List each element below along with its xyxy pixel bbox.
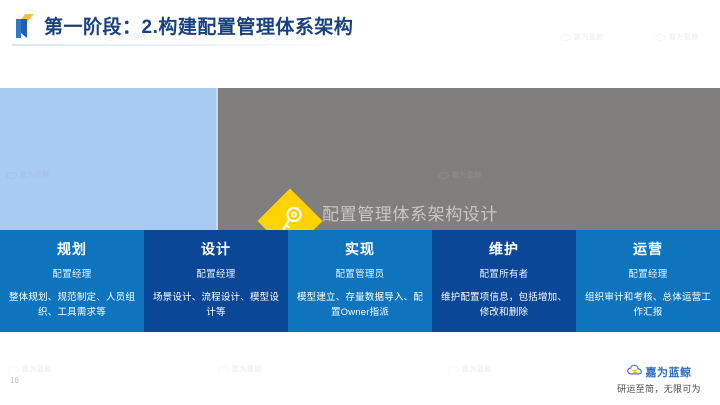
phase-column-implementation[interactable]: 实现 配置管理员 模型建立、存量数据导入、配置Owner指派	[288, 230, 432, 332]
cloud-logo-icon	[627, 363, 643, 381]
band-left-panel	[0, 88, 216, 230]
cloud-watermark-icon	[8, 365, 19, 373]
column-title: 维护	[438, 239, 570, 259]
brand-tagline: 研运至简，无限可为	[606, 382, 712, 395]
page-title: 第一阶段：2.构建配置管理体系架构	[44, 12, 353, 39]
slide-canvas: 第一阶段：2.构建配置管理体系架构 配置管理体系架构设计 管理过程：定义管理目标…	[0, 0, 720, 405]
column-role: 配置经理	[582, 266, 714, 280]
band-divider	[216, 88, 218, 230]
column-description: 模型建立、存量数据导入、配置Owner指派	[294, 290, 426, 320]
flag-bookmark-icon	[12, 13, 38, 39]
cloud-watermark-icon	[448, 365, 459, 373]
watermark: 嘉为蓝鲸	[8, 364, 52, 374]
cloud-watermark-icon	[218, 365, 229, 373]
title-underline	[12, 44, 342, 46]
architecture-band: 配置管理体系架构设计 管理过程：定义管理目标、流程和关键活动描述 人员组织：角色…	[0, 88, 720, 230]
column-title: 运营	[582, 239, 714, 259]
phase-column-planning[interactable]: 规划 配置经理 整体规划、规范制定、人员组织、工具需求等	[0, 230, 144, 332]
watermark: 嘉为蓝鲸	[448, 364, 492, 374]
column-description: 场景设计、流程设计、模型设计等	[150, 290, 282, 320]
column-description: 整体规划、规范制定、人员组织、工具需求等	[6, 290, 138, 320]
band-heading: 配置管理体系架构设计	[322, 200, 498, 225]
slide-header: 第一阶段：2.构建配置管理体系架构	[0, 0, 720, 48]
column-description: 维护配置项信息，包括增加、修改和删除	[438, 290, 570, 320]
watermark: 嘉为蓝鲸	[218, 364, 262, 374]
column-title: 规划	[6, 239, 138, 259]
column-role: 配置所有者	[438, 266, 570, 280]
column-title: 实现	[294, 239, 426, 259]
column-role: 配置管理员	[294, 266, 426, 280]
watermark-text: 嘉为蓝鲸	[22, 364, 52, 374]
column-role: 配置经理	[6, 266, 138, 280]
phase-column-design[interactable]: 设计 配置经理 场景设计、流程设计、模型设计等	[144, 230, 288, 332]
column-title: 设计	[150, 239, 282, 259]
brand-logo: 嘉为蓝鲸 研运至简，无限可为	[606, 364, 712, 395]
column-description: 组织审计和考核、总体运营工作汇报	[582, 290, 714, 320]
column-role: 配置经理	[150, 266, 282, 280]
brand-name: 嘉为蓝鲸	[646, 364, 692, 380]
phase-column-maintenance[interactable]: 维护 配置所有者 维护配置项信息，包括增加、修改和删除	[432, 230, 576, 332]
watermark-text: 嘉为蓝鲸	[462, 364, 492, 374]
watermark-text: 嘉为蓝鲸	[232, 364, 262, 374]
page-number: 16	[10, 376, 19, 385]
phase-columns: 规划 配置经理 整体规划、规范制定、人员组织、工具需求等 设计 配置经理 场景设…	[0, 230, 720, 332]
phase-column-operations[interactable]: 运营 配置经理 组织审计和考核、总体运营工作汇报	[576, 230, 720, 332]
